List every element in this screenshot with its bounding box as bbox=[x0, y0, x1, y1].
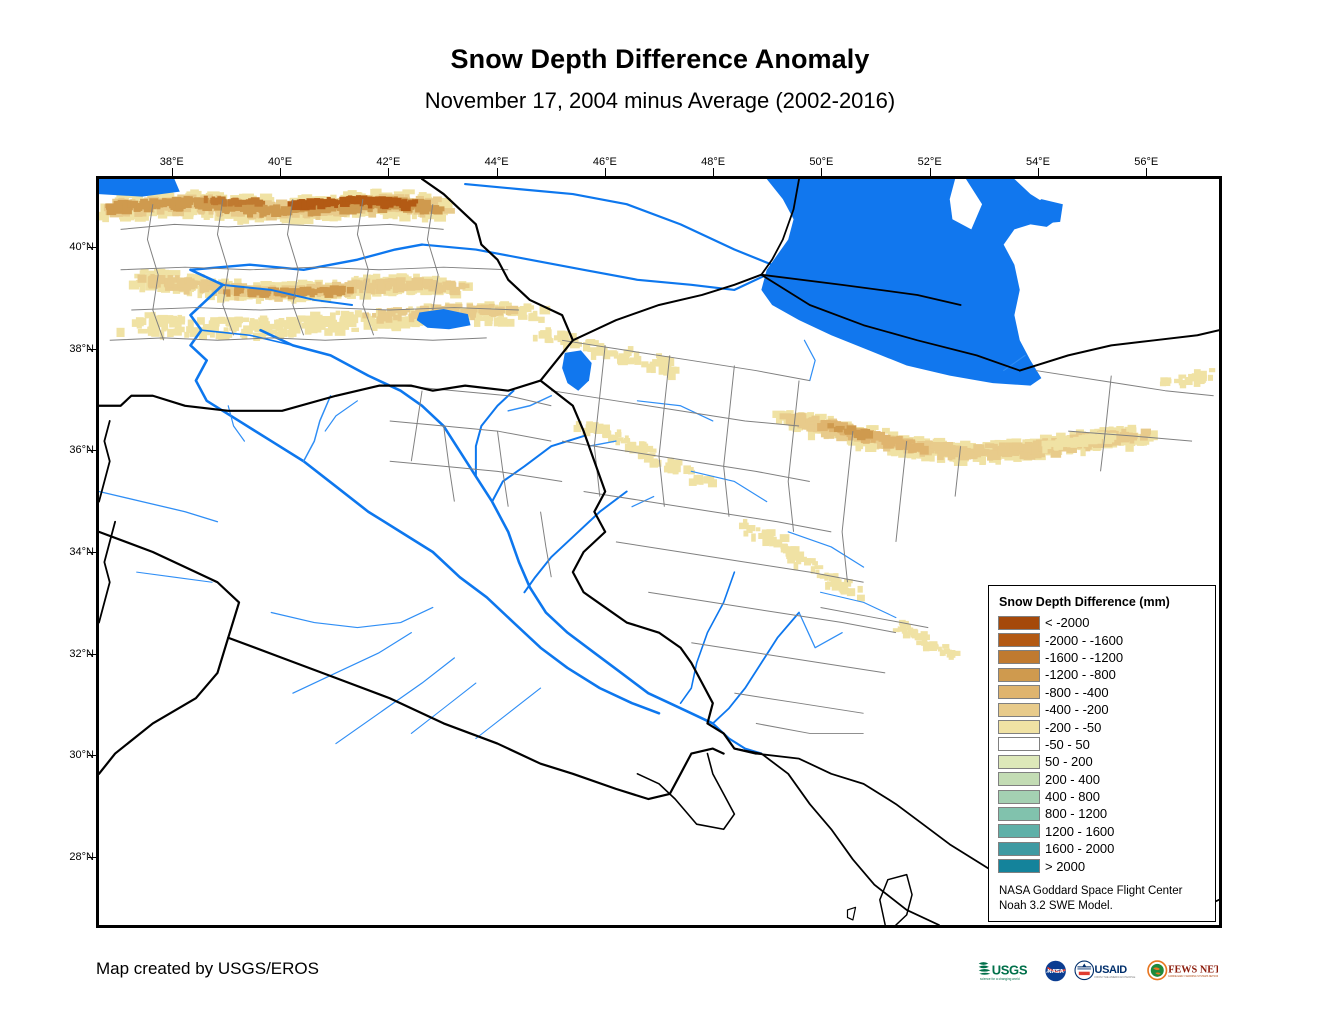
anomaly-cell bbox=[347, 287, 354, 294]
anomaly-cell bbox=[392, 323, 402, 331]
legend-class-list: < -2000-2000 - -1600-1600 - -1200-1200 -… bbox=[998, 614, 1206, 875]
lon-tick-label: 46°E bbox=[593, 156, 617, 168]
lon-tick-label: 50°E bbox=[809, 156, 833, 168]
anomaly-cell bbox=[149, 200, 157, 208]
legend-row[interactable]: -2000 - -1600 bbox=[998, 631, 1206, 648]
anomaly-cell bbox=[218, 317, 225, 324]
anomaly-cell bbox=[204, 196, 208, 204]
anomaly-cell bbox=[177, 279, 185, 285]
lon-tick-label: 56°E bbox=[1134, 156, 1158, 168]
anomaly-cell bbox=[1165, 377, 1171, 381]
legend-label: < -2000 bbox=[1045, 615, 1089, 630]
legend-row[interactable]: < -2000 bbox=[998, 614, 1206, 631]
anomaly-cell bbox=[310, 312, 320, 320]
anomaly-cell bbox=[234, 278, 241, 283]
usaid-logo[interactable]: USAID FROM THE AMERICAN PEOPLE bbox=[1074, 954, 1140, 988]
lon-tick-mark bbox=[930, 168, 931, 176]
anomaly-cell bbox=[168, 316, 176, 322]
anomaly-cell bbox=[405, 204, 410, 209]
anomaly-cell bbox=[1097, 437, 1102, 443]
anomaly-cell bbox=[106, 204, 112, 210]
anomaly-cell bbox=[630, 357, 639, 363]
legend-source-note: NASA Goddard Space Flight Center Noah 3.… bbox=[999, 884, 1206, 913]
anomaly-cell bbox=[450, 282, 456, 291]
anomaly-cell bbox=[99, 212, 106, 221]
lon-tick-label: 48°E bbox=[701, 156, 725, 168]
anomaly-cell bbox=[385, 313, 389, 320]
anomaly-cell bbox=[814, 565, 823, 569]
anomaly-cell bbox=[279, 318, 285, 327]
anomaly-cell bbox=[232, 198, 238, 203]
legend-source-line1: NASA Goddard Space Flight Center bbox=[999, 884, 1206, 899]
anomaly-cell bbox=[168, 278, 175, 287]
legend-divider bbox=[998, 875, 1206, 881]
anomaly-cell bbox=[484, 304, 491, 311]
legend-row[interactable]: 800 - 1200 bbox=[998, 805, 1206, 822]
anomaly-cell bbox=[546, 338, 554, 343]
anomaly-cell bbox=[401, 321, 410, 328]
anomaly-cell bbox=[944, 649, 950, 654]
legend-label: 50 - 200 bbox=[1045, 754, 1093, 769]
legend-swatch bbox=[998, 755, 1040, 769]
anomaly-cell bbox=[743, 531, 748, 537]
legend-source-line2: Noah 3.2 SWE Model. bbox=[999, 899, 1206, 914]
anomaly-cell bbox=[739, 523, 749, 530]
svg-text:FROM THE AMERICAN PEOPLE: FROM THE AMERICAN PEOPLE bbox=[1095, 975, 1136, 979]
anomaly-cell bbox=[158, 275, 163, 281]
anomaly-cell bbox=[858, 586, 863, 593]
anomaly-cell bbox=[257, 201, 261, 206]
anomaly-cell bbox=[304, 287, 311, 295]
anomaly-cell bbox=[338, 286, 344, 294]
anomaly-cell bbox=[322, 316, 331, 324]
anomaly-cell bbox=[1044, 442, 1051, 449]
anomaly-cell bbox=[345, 312, 354, 319]
anomaly-cell bbox=[617, 429, 621, 433]
anomaly-cell bbox=[594, 351, 603, 356]
anomaly-cell bbox=[331, 322, 341, 331]
page-title: Snow Depth Difference Anomaly bbox=[0, 44, 1320, 75]
anomaly-cell bbox=[1144, 429, 1151, 436]
anomaly-cell bbox=[330, 198, 335, 204]
anomaly-cell bbox=[275, 206, 279, 213]
anomaly-cell bbox=[1197, 373, 1204, 380]
anomaly-cell bbox=[825, 582, 830, 590]
anomaly-cell bbox=[622, 358, 627, 363]
anomaly-cell bbox=[673, 470, 678, 474]
lon-tick-mark bbox=[172, 168, 173, 176]
anomaly-cell bbox=[922, 634, 930, 640]
anomaly-cell bbox=[226, 289, 230, 296]
anomaly-cell bbox=[1209, 368, 1215, 372]
legend-swatch bbox=[998, 772, 1040, 786]
anomaly-cell bbox=[287, 330, 295, 337]
anomaly-cell bbox=[376, 279, 384, 283]
anomaly-cell bbox=[435, 206, 445, 211]
anomaly-cell bbox=[762, 539, 769, 546]
legend-row[interactable]: 1200 - 1600 bbox=[998, 823, 1206, 840]
anomaly-cell bbox=[311, 321, 318, 330]
lon-tick-mark bbox=[713, 168, 714, 176]
anomaly-cell bbox=[371, 284, 378, 288]
anomaly-cell bbox=[961, 448, 966, 456]
anomaly-cell bbox=[170, 270, 181, 276]
anomaly-cell bbox=[923, 645, 929, 652]
anomaly-cell bbox=[903, 633, 910, 639]
anomaly-cell bbox=[1082, 434, 1088, 438]
legend-row[interactable]: -1200 - -800 bbox=[998, 666, 1206, 683]
lon-tick-label: 40°E bbox=[268, 156, 292, 168]
anomaly-cell bbox=[1151, 430, 1158, 440]
legend-label: -50 - 50 bbox=[1045, 737, 1090, 752]
lat-tick-mark bbox=[88, 552, 96, 553]
anomaly-cell bbox=[1019, 446, 1024, 451]
lon-tick-label: 42°E bbox=[376, 156, 400, 168]
legend-swatch bbox=[998, 703, 1040, 717]
legend-row[interactable]: 50 - 200 bbox=[998, 753, 1206, 770]
anomaly-cell bbox=[250, 318, 255, 322]
anomaly-cell bbox=[250, 324, 256, 330]
legend-label: -1200 - -800 bbox=[1045, 667, 1116, 682]
anomaly-cell bbox=[136, 317, 144, 326]
anomaly-cell bbox=[934, 644, 938, 650]
anomaly-cell bbox=[916, 641, 922, 646]
anomaly-cell bbox=[1014, 450, 1019, 456]
anomaly-cell bbox=[937, 450, 944, 460]
legend-label: -2000 - -1600 bbox=[1045, 633, 1123, 648]
lat-tick-mark bbox=[88, 450, 96, 451]
nasa-logo[interactable]: NASA bbox=[1044, 954, 1067, 988]
lon-tick-label: 38°E bbox=[160, 156, 184, 168]
legend-label: 1600 - 2000 bbox=[1045, 841, 1114, 856]
legend-label: 200 - 400 bbox=[1045, 772, 1100, 787]
anomaly-cell bbox=[533, 335, 538, 342]
anomaly-cell bbox=[763, 536, 767, 540]
legend-panel[interactable]: Snow Depth Difference (mm) < -2000-2000 … bbox=[988, 585, 1216, 922]
anomaly-cell bbox=[386, 284, 390, 289]
anomaly-cell bbox=[351, 328, 359, 332]
anomaly-cell bbox=[756, 527, 760, 531]
anomaly-cell bbox=[301, 202, 305, 209]
lat-tick-mark bbox=[88, 247, 96, 248]
legend-swatch bbox=[998, 842, 1040, 856]
anomaly-cell bbox=[812, 561, 817, 565]
anomaly-cell bbox=[890, 438, 895, 447]
svg-text:science for a changing world: science for a changing world bbox=[980, 977, 1020, 981]
anomaly-cell bbox=[223, 199, 227, 206]
anomaly-cell bbox=[372, 313, 376, 317]
anomaly-cell bbox=[664, 466, 670, 473]
legend-row[interactable]: -400 - -200 bbox=[998, 701, 1206, 718]
anomaly-cell bbox=[1033, 440, 1039, 449]
anomaly-cell bbox=[260, 316, 267, 320]
logo-bar: USGS science for a changing world NASA U… bbox=[978, 952, 1218, 990]
legend-row[interactable]: -800 - -400 bbox=[998, 684, 1206, 701]
anomaly-cell bbox=[985, 443, 994, 448]
legend-row[interactable]: 400 - 800 bbox=[998, 788, 1206, 805]
anomaly-cell bbox=[123, 203, 127, 212]
map-credit: Map created by USGS/EROS bbox=[96, 959, 319, 979]
anomaly-cell bbox=[844, 588, 849, 593]
anomaly-cell bbox=[177, 315, 182, 321]
anomaly-cell bbox=[914, 444, 921, 450]
anomaly-cell bbox=[336, 311, 340, 315]
anomaly-cell bbox=[1079, 440, 1086, 446]
legend-swatch bbox=[998, 859, 1040, 873]
anomaly-cell bbox=[194, 198, 203, 204]
anomaly-cell bbox=[528, 316, 538, 321]
legend-swatch bbox=[998, 824, 1040, 838]
anomaly-cell bbox=[708, 479, 717, 487]
anomaly-cell bbox=[412, 278, 421, 285]
anomaly-cell bbox=[641, 361, 648, 367]
anomaly-cell bbox=[197, 317, 205, 325]
svg-text:NASA: NASA bbox=[1047, 969, 1064, 975]
anomaly-cell bbox=[1179, 378, 1183, 385]
anomaly-cell bbox=[920, 446, 929, 455]
lon-tick-label: 52°E bbox=[918, 156, 942, 168]
anomaly-cell bbox=[999, 442, 1005, 450]
anomaly-cell bbox=[336, 200, 340, 204]
anomaly-cell bbox=[751, 533, 756, 541]
anomaly-cell bbox=[247, 209, 253, 218]
anomaly-cell bbox=[459, 284, 469, 288]
legend-label: -200 - -50 bbox=[1045, 720, 1101, 735]
anomaly-cell bbox=[406, 308, 410, 312]
anomaly-cell bbox=[684, 467, 693, 474]
svg-text:FAMINE EARLY WARNING SYSTEMS N: FAMINE EARLY WARNING SYSTEMS NETWORK bbox=[1168, 975, 1218, 978]
anomaly-cell bbox=[117, 328, 125, 337]
anomaly-cell bbox=[316, 282, 322, 286]
anomaly-cell bbox=[248, 198, 252, 204]
anomaly-cell bbox=[827, 423, 834, 428]
legend-swatch bbox=[998, 668, 1040, 682]
anomaly-cell bbox=[443, 208, 455, 214]
anomaly-cell bbox=[261, 321, 270, 330]
anomaly-cell bbox=[621, 439, 631, 443]
anomaly-cell bbox=[242, 317, 249, 322]
svg-text:USAID: USAID bbox=[1095, 964, 1128, 976]
anomaly-cell bbox=[240, 200, 244, 204]
anomaly-cell bbox=[137, 275, 146, 283]
legend-label: 1200 - 1600 bbox=[1045, 824, 1114, 839]
legend-row[interactable]: 1600 - 2000 bbox=[998, 840, 1206, 857]
anomaly-cell bbox=[832, 584, 839, 591]
anomaly-cell bbox=[606, 431, 611, 437]
anomaly-cell bbox=[780, 544, 787, 549]
anomaly-cell bbox=[308, 199, 313, 206]
anomaly-cell bbox=[675, 367, 680, 374]
legend-row[interactable]: -200 - -50 bbox=[998, 718, 1206, 735]
legend-swatch bbox=[998, 650, 1040, 664]
svg-text:FEWS NET: FEWS NET bbox=[1168, 964, 1218, 975]
anomaly-cell bbox=[651, 367, 656, 373]
anomaly-cell bbox=[192, 280, 198, 288]
anomaly-cell bbox=[162, 322, 168, 330]
anomaly-cell bbox=[421, 205, 429, 211]
anomaly-cell bbox=[966, 452, 976, 459]
anomaly-cell bbox=[857, 595, 865, 602]
anomaly-cell bbox=[138, 329, 148, 334]
anomaly-cell bbox=[233, 319, 241, 325]
lon-tick-mark bbox=[280, 168, 281, 176]
anomaly-cell bbox=[224, 207, 229, 214]
anomaly-cell bbox=[507, 319, 515, 327]
anomaly-cell bbox=[431, 280, 436, 286]
page-subtitle: November 17, 2004 minus Average (2002-20… bbox=[0, 88, 1320, 114]
anomaly-cell bbox=[436, 285, 442, 294]
anomaly-cell bbox=[699, 477, 703, 485]
lon-tick-mark bbox=[497, 168, 498, 176]
lon-tick-mark bbox=[1038, 168, 1039, 176]
lon-tick-label: 54°E bbox=[1026, 156, 1050, 168]
anomaly-cell bbox=[855, 441, 861, 451]
lat-tick-mark bbox=[88, 755, 96, 756]
lon-tick-mark bbox=[388, 168, 389, 176]
anomaly-cell bbox=[977, 444, 985, 450]
anomaly-cell bbox=[163, 270, 169, 275]
anomaly-cell bbox=[538, 317, 544, 323]
anomaly-cell bbox=[1128, 425, 1137, 433]
legend-row[interactable]: 200 - 400 bbox=[998, 771, 1206, 788]
anomaly-cell bbox=[849, 590, 855, 596]
anomaly-cell bbox=[506, 310, 511, 316]
anomaly-cell bbox=[915, 633, 922, 640]
map-page: Snow Depth Difference Anomaly November 1… bbox=[0, 0, 1320, 1020]
anomaly-cell bbox=[748, 529, 752, 533]
anomaly-cell bbox=[357, 280, 363, 289]
lat-tick-mark bbox=[88, 349, 96, 350]
anomaly-cell bbox=[310, 290, 315, 297]
anomaly-cell bbox=[1005, 442, 1010, 450]
anomaly-cell bbox=[316, 324, 321, 333]
legend-label: 400 - 800 bbox=[1045, 789, 1100, 804]
legend-swatch bbox=[998, 720, 1040, 734]
anomaly-cell bbox=[617, 355, 621, 364]
legend-swatch bbox=[998, 616, 1040, 630]
anomaly-cell bbox=[940, 649, 944, 656]
legend-swatch bbox=[998, 685, 1040, 699]
legend-row[interactable]: -50 - 50 bbox=[998, 736, 1206, 753]
anomaly-cell bbox=[953, 651, 960, 656]
legend-row[interactable]: > 2000 bbox=[998, 857, 1206, 874]
legend-swatch bbox=[998, 633, 1040, 647]
anomaly-cell bbox=[428, 286, 433, 291]
anomaly-cell bbox=[650, 449, 657, 453]
anomaly-cell bbox=[1208, 375, 1213, 381]
legend-swatch bbox=[998, 790, 1040, 804]
svg-text:USGS: USGS bbox=[992, 962, 1028, 977]
anomaly-cell bbox=[942, 644, 949, 649]
anomaly-cell bbox=[154, 269, 164, 275]
anomaly-cell bbox=[389, 199, 397, 203]
anomaly-cell bbox=[838, 428, 842, 432]
legend-label: 800 - 1200 bbox=[1045, 806, 1107, 821]
anomaly-cell bbox=[210, 319, 218, 328]
legend-swatch bbox=[998, 737, 1040, 751]
anomaly-cell bbox=[893, 628, 900, 632]
anomaly-cell bbox=[263, 208, 273, 213]
lon-tick-label: 44°E bbox=[485, 156, 509, 168]
lat-tick-mark bbox=[88, 857, 96, 858]
anomaly-cell bbox=[498, 317, 508, 326]
anomaly-cell bbox=[924, 641, 929, 645]
anomaly-cell bbox=[396, 279, 405, 288]
anomaly-cell bbox=[834, 579, 842, 584]
lon-tick-mark bbox=[821, 168, 822, 176]
anomaly-cell bbox=[594, 426, 603, 434]
anomaly-cell bbox=[607, 350, 617, 356]
legend-label: -800 - -400 bbox=[1045, 685, 1109, 700]
lat-tick-mark bbox=[88, 654, 96, 655]
anomaly-cell bbox=[288, 201, 292, 206]
anomaly-cell bbox=[796, 556, 801, 564]
anomaly-cell bbox=[340, 324, 349, 330]
anomaly-cell bbox=[865, 432, 870, 439]
legend-label: -1600 - -1200 bbox=[1045, 650, 1123, 665]
legend-row[interactable]: -1600 - -1200 bbox=[998, 649, 1206, 666]
anomaly-cell bbox=[808, 432, 815, 441]
anomaly-cell bbox=[522, 308, 527, 316]
anomaly-cell bbox=[1178, 375, 1186, 379]
legend-label: -400 - -200 bbox=[1045, 702, 1109, 717]
legend-swatch bbox=[998, 807, 1040, 821]
anomaly-cell bbox=[378, 308, 382, 312]
anomaly-cell bbox=[150, 280, 156, 287]
anomaly-cell bbox=[1096, 432, 1101, 438]
anomaly-cell bbox=[399, 310, 406, 315]
legend-label: > 2000 bbox=[1045, 859, 1085, 874]
anomaly-cell bbox=[211, 199, 217, 205]
legend-title: Snow Depth Difference (mm) bbox=[999, 595, 1206, 609]
anomaly-cell bbox=[808, 424, 815, 431]
usgs-logo[interactable]: USGS science for a changing world bbox=[978, 954, 1037, 988]
fewsnet-logo[interactable]: FEWS NET FAMINE EARLY WARNING SYSTEMS NE… bbox=[1147, 954, 1218, 988]
lon-tick-mark bbox=[1146, 168, 1147, 176]
anomaly-cell bbox=[488, 319, 493, 324]
lon-tick-mark bbox=[605, 168, 606, 176]
anomaly-cell bbox=[847, 428, 852, 434]
anomaly-cell bbox=[151, 328, 159, 336]
anomaly-cell bbox=[175, 324, 181, 333]
